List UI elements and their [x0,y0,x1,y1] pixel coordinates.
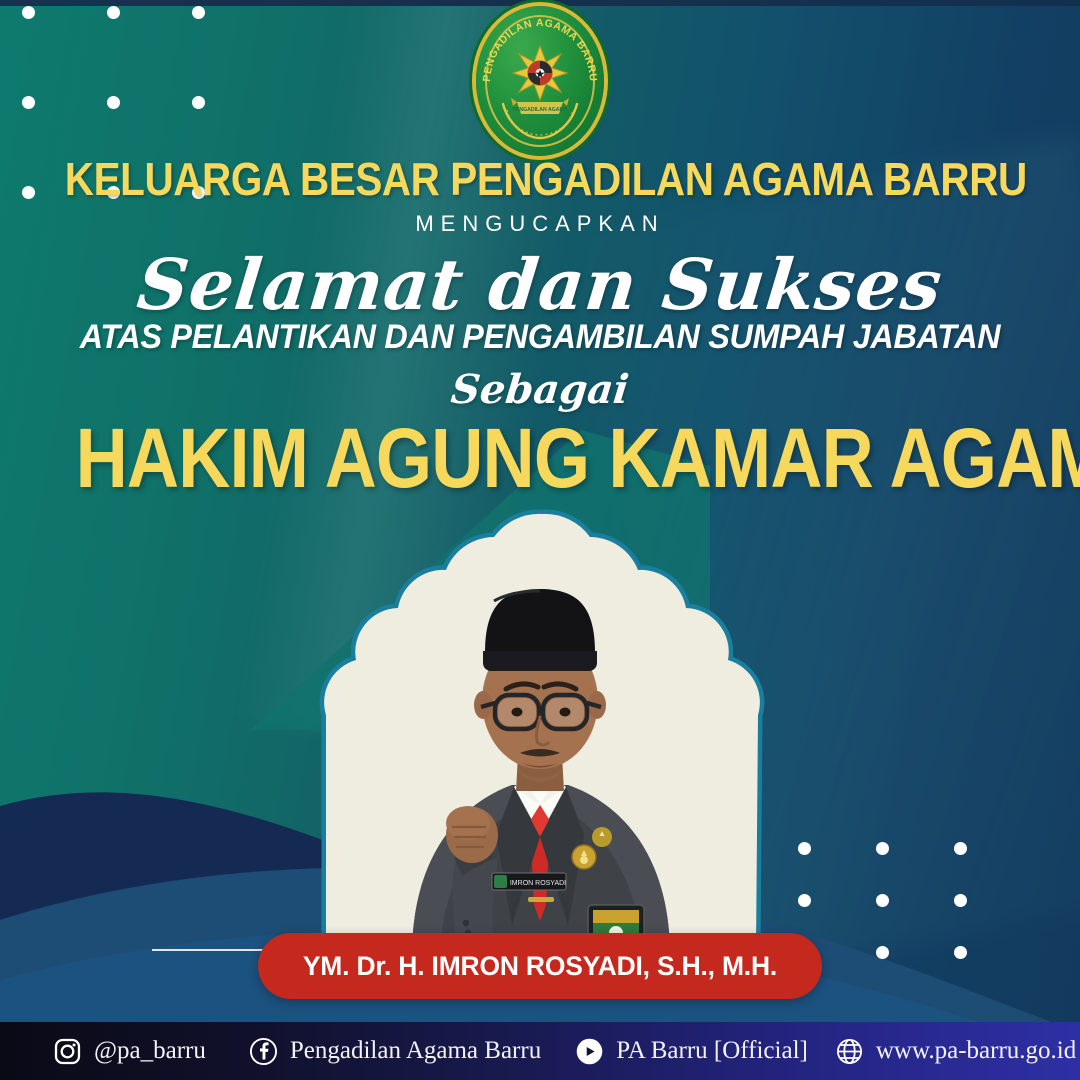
facebook-label: Pengadilan Agama Barru [290,1037,541,1065]
as-script-label: Sebagai [0,366,1080,413]
footer-facebook[interactable]: Pengadilan Agama Barru [248,1036,541,1067]
social-media-footer: @pa_barru Pengadilan Agama Barru PA Barr… [0,1022,1080,1080]
footer-youtube[interactable]: PA Barru [Official] [574,1036,808,1067]
footer-website[interactable]: www.pa-barru.go.id [834,1036,1076,1067]
occasion-heading: ATAS PELANTIKAN DAN PENGAMBILAN SUMPAH J… [27,318,1053,357]
honoree-photo: IMRON ROSYADI [262,505,818,950]
organization-heading: KELUARGA BESAR PENGADILAN AGAMA BARRU [65,152,1015,206]
position-heading: HAKIM AGUNG KAMAR AGAMA [76,414,1005,502]
instagram-label: @pa_barru [94,1037,206,1065]
svg-text:IMRON ROSYADI: IMRON ROSYADI [510,880,566,887]
honoree-name: YM. Dr. H. IMRON ROSYADI, S.H., M.H. [303,951,777,982]
instagram-icon [52,1036,83,1067]
youtube-label: PA Barru [Official] [616,1037,808,1065]
court-seal-logo: PENGADILAN AGAMA BARRU PENGADILAN AGAMA [476,6,604,156]
greeting-poster: PENGADILAN AGAMA BARRU PENGADILAN AGAMA … [0,0,1080,1080]
honoree-name-banner: YM. Dr. H. IMRON ROSYADI, S.H., M.H. [258,933,822,999]
greeting-script-heading: Selamat dan Sukses [0,243,1080,326]
verb-label: MENGUCAPKAN [0,211,1080,237]
youtube-icon [574,1036,605,1067]
footer-instagram[interactable]: @pa_barru [52,1036,206,1067]
website-label: www.pa-barru.go.id [876,1037,1076,1065]
facebook-icon [248,1036,279,1067]
globe-icon [834,1036,865,1067]
seal-ribbon-label: PENGADILAN AGAMA [512,107,567,113]
honoree-photo-frame: IMRON ROSYADI [262,505,818,950]
dot-grid-bottom-right [798,842,1032,998]
seal-starburst-icon [511,44,569,102]
seal-wreath-ribbon: PENGADILAN AGAMA [497,96,583,142]
